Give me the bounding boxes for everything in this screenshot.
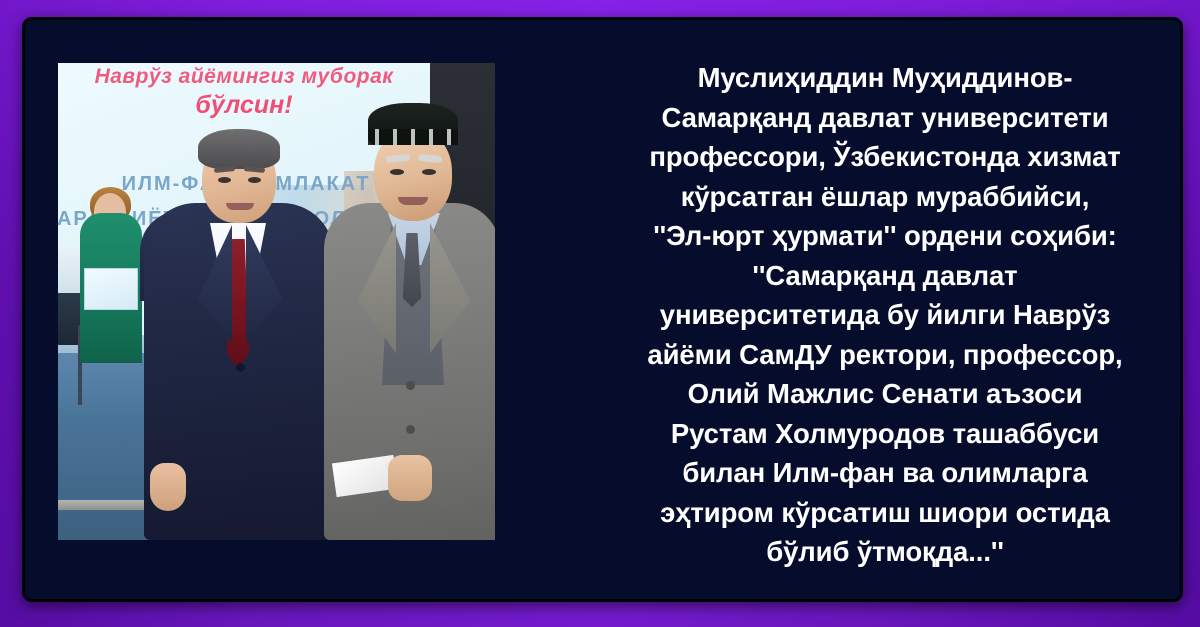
man-navy-hand (150, 463, 186, 511)
man-grey-button-top (406, 381, 415, 390)
slide-card: Наврўз айёмингиз муборак бўлсин! ИЛМ-ФАН… (22, 17, 1183, 602)
man-grey-eye-right (422, 169, 436, 175)
man-grey-hand (388, 455, 432, 501)
man-navy-hair (198, 129, 280, 169)
doppi-cap-pattern (368, 129, 458, 145)
caption-text: Муслиҳиддин Муҳиддинов- Самарқанд давлат… (647, 58, 1122, 572)
man-navy-mouth (226, 203, 254, 210)
event-photo: Наврўз айёмингиз муборак бўлсин! ИЛМ-ФАН… (58, 63, 495, 540)
caption-block: Муслиҳиддин Муҳиддинов- Самарқанд давлат… (590, 60, 1180, 570)
man-grey-eye-left (390, 169, 404, 175)
man-grey-button-bottom (406, 425, 415, 434)
presenter-papers (84, 268, 138, 310)
man-navy-eye-right (248, 177, 261, 183)
man-grey-mouth (398, 197, 428, 205)
man-navy-eye-left (218, 177, 231, 183)
man-navy-button (236, 363, 245, 372)
